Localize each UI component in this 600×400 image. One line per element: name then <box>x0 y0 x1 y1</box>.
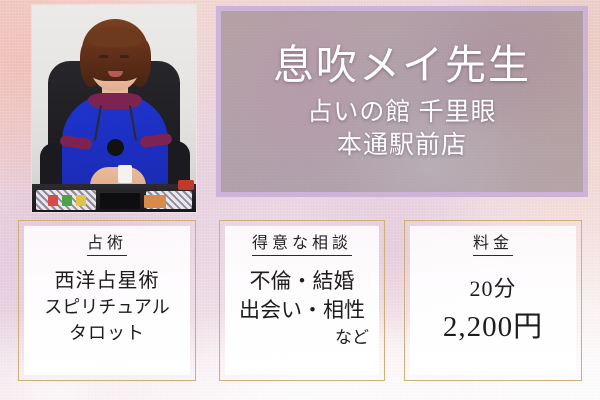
photo-held-card <box>118 165 132 183</box>
title-content: 息吹メイ先生 占いの館 千里眼 本通駅前店 <box>273 45 531 158</box>
photo-tarot-card-red <box>48 195 58 206</box>
card-divination-heading: 占術 <box>87 235 127 256</box>
info-cards-row: 占術 西洋占星術 スピリチュアル タロット 得意な相談 不倫・結婚 出会い・相性… <box>0 220 600 382</box>
card-divination-inner: 占術 西洋占星術 スピリチュアル タロット <box>24 226 190 375</box>
card-consultation-line-2: 出会い・相性 <box>225 296 379 326</box>
card-price-inner: 料金 20分 2,200円 <box>410 226 576 375</box>
photo-red-object <box>178 180 194 190</box>
card-consultation-body: 不倫・結婚 出会い・相性 など <box>225 267 379 351</box>
card-consultation-heading: 得意な相談 <box>252 235 352 256</box>
photo-hair-bangs <box>88 27 142 47</box>
photo-necklace-pendant <box>107 139 124 156</box>
card-price-heading: 料金 <box>473 235 513 256</box>
photo-card-box <box>100 193 140 209</box>
title-panel: 息吹メイ先生 占いの館 千里眼 本通駅前店 <box>216 6 588 197</box>
photo-eye-right <box>120 55 129 58</box>
shop-name: 占いの館 千里眼 <box>273 100 531 125</box>
card-divination-body: 西洋占星術 スピリチュアル タロット <box>24 267 190 346</box>
photo-tarot-card-green <box>62 195 72 206</box>
card-divination-line-2: スピリチュアル <box>24 295 190 321</box>
card-price-duration: 20分 <box>410 273 576 304</box>
branch-name: 本通駅前店 <box>273 133 531 158</box>
photo-card-pile <box>144 195 166 208</box>
card-price: 料金 20分 2,200円 <box>404 220 582 381</box>
card-consultation-line-1: 不倫・結婚 <box>225 267 379 297</box>
card-consultation-line-3: など <box>225 326 379 350</box>
photo-eye-left <box>99 55 108 58</box>
card-consultation: 得意な相談 不倫・結婚 出会い・相性 など <box>219 220 385 381</box>
card-consultation-inner: 得意な相談 不倫・結婚 出会い・相性 など <box>225 226 379 375</box>
card-divination: 占術 西洋占星術 スピリチュアル タロット <box>18 220 196 381</box>
photo-illustration <box>32 5 196 212</box>
card-price-body: 20分 2,200円 <box>410 267 576 348</box>
card-divination-line-3: タロット <box>24 321 190 347</box>
photo-tarot-card-yellow <box>76 195 86 206</box>
card-price-amount: 2,200円 <box>410 307 576 348</box>
photo-collar-trim <box>88 93 142 109</box>
fortune-teller-name: 息吹メイ先生 <box>273 45 531 86</box>
card-divination-line-1: 西洋占星術 <box>24 267 190 295</box>
fortune-teller-photo <box>32 5 196 212</box>
profile-card-canvas: 息吹メイ先生 占いの館 千里眼 本通駅前店 占術 西洋占星術 スピリチュアル タ… <box>0 0 600 400</box>
